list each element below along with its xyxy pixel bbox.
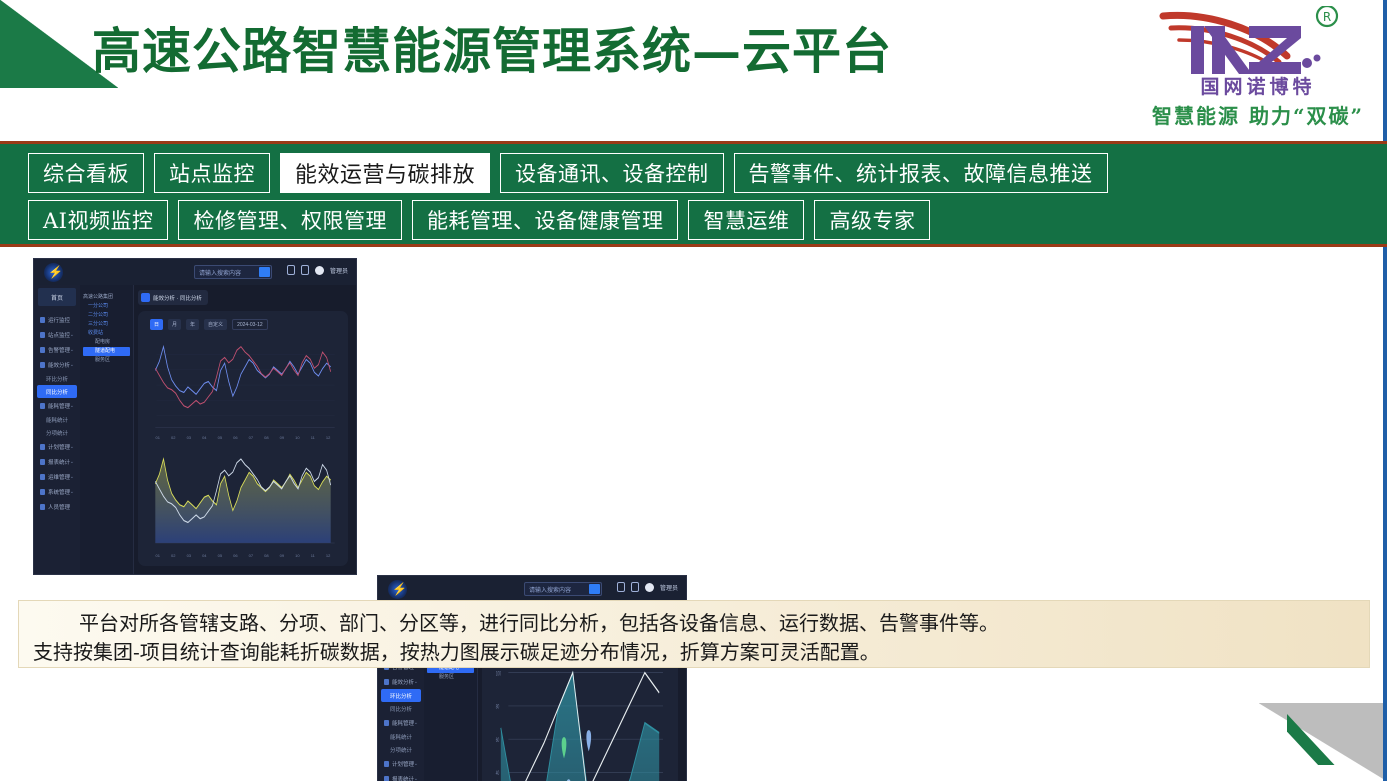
tree-node-0[interactable]: 高速公路集团: [83, 293, 130, 302]
svg-text:60: 60: [496, 737, 500, 745]
caption-line-2: 支持按集团-项目统计查询能耗折碳数据，按热力图展示碳足迹分布情况，折算方案可灵活…: [33, 638, 1355, 667]
svg-text:40: 40: [496, 770, 500, 778]
x-tick: 02: [171, 435, 175, 443]
tree-node-7[interactable]: 服务区: [83, 356, 130, 365]
sidebar-sub-1[interactable]: 同比分析: [381, 702, 421, 715]
x-tick: 10: [295, 553, 299, 561]
chevron-down-icon: ⌄: [70, 332, 74, 338]
sidebar-sub-0-selected[interactable]: 环比分析: [381, 689, 421, 702]
x-tick: 04: [202, 435, 206, 443]
sidebar-sub-3[interactable]: 分项统计: [37, 426, 77, 439]
svg-text:100: 100: [496, 670, 501, 678]
dash1-sidebar[interactable]: 首页 运行监控 站点监控⌄ 告警管理⌄ 能效分析⌄ 环比分析 同比分析 能耗管理…: [34, 285, 80, 574]
chevron-down-icon: ⌄: [70, 444, 74, 450]
dash2-area-chart: 100806040200: [492, 654, 668, 781]
dash2-user-label: 管理员: [660, 583, 678, 592]
avatar[interactable]: [315, 266, 324, 275]
x-tick: 09: [280, 553, 284, 561]
tree-node-7[interactable]: 服务区: [427, 673, 474, 682]
nav-tab-gaojizhuanjia[interactable]: 高级专家: [814, 200, 930, 240]
sidebar-sub-3[interactable]: 分项统计: [381, 743, 421, 756]
x-tick: 10: [295, 435, 299, 443]
pill-month[interactable]: 月: [168, 319, 181, 330]
x-tick: 11: [311, 553, 315, 561]
x-tick: 01: [156, 553, 160, 561]
message-icon[interactable]: [617, 582, 625, 592]
brand-logo: R 国网诺博特 智慧能源 助力“双碳”: [1135, 4, 1381, 132]
sidebar-home-label: 首页: [51, 293, 63, 302]
nav-tab-jianxiuguanli[interactable]: 检修管理、权限管理: [178, 200, 402, 240]
nav-tab-nenghaoguanli[interactable]: 能耗管理、设备健康管理: [412, 200, 679, 240]
tree-node-5[interactable]: 配电房: [83, 338, 130, 347]
breadcrumb-label: 能效分析 · 同比分析: [153, 294, 202, 302]
sidebar-item-3[interactable]: 能效分析⌄: [381, 674, 421, 689]
x-tick: 03: [187, 435, 191, 443]
chevron-down-icon: ⌄: [70, 474, 74, 480]
x-tick: 07: [249, 435, 253, 443]
chevron-down-icon: ⌄: [414, 776, 418, 781]
logo-monogram-icon: R: [1157, 6, 1357, 78]
x-tick: 06: [233, 553, 237, 561]
x-tick: 02: [171, 553, 175, 561]
dash1-search-placeholder: 请输入搜索内容: [199, 268, 241, 277]
dash2-search-placeholder: 请输入搜索内容: [529, 585, 571, 594]
chevron-down-icon: ⌄: [414, 761, 418, 767]
pill-custom[interactable]: 自定义: [204, 319, 227, 330]
chevron-down-icon: ⌄: [70, 459, 74, 465]
dash1-topbar: 请输入搜索内容 管理员: [34, 259, 356, 285]
x-tick: 05: [218, 435, 222, 443]
bell-icon[interactable]: [631, 582, 639, 592]
area-chart-svg: [150, 451, 336, 551]
sidebar-item-6[interactable]: 报表统计⌄: [37, 454, 77, 469]
x-tick: 08: [264, 435, 268, 443]
page-title: 高速公路智慧能源管理系统—云平台: [92, 14, 1102, 88]
tree-node-6-selected[interactable]: 隧道配电: [83, 347, 130, 356]
x-tick: 05: [218, 553, 222, 561]
dash1-user-label: 管理员: [330, 266, 348, 275]
x-tick: 01: [156, 435, 160, 443]
dash1-chart1-xaxis: 010203040506070809101112: [150, 435, 336, 443]
breadcrumb: 能效分析 · 同比分析: [138, 290, 208, 305]
svg-text:R: R: [1323, 10, 1331, 24]
screenshot-energy-trend-dashboard[interactable]: 请输入搜索内容 管理员 首页 运行监控 站点监控⌄ 告警管理⌄ 能效分析⌄ 环比…: [33, 258, 357, 575]
dash1-topbar-icons: 管理员: [287, 265, 348, 275]
sidebar-item-2[interactable]: 告警管理⌄: [37, 342, 77, 357]
sidebar-item-8[interactable]: 系统管理⌄: [37, 484, 77, 499]
chevron-down-icon: ⌄: [70, 347, 74, 353]
tree-node-2[interactable]: 二分公司: [83, 311, 130, 320]
dash1-main: 能效分析 · 同比分析 日 月 年 自定义 2024-03-12 0102030…: [134, 285, 352, 570]
area-chart-svg: 100806040200: [492, 654, 668, 781]
nav-tab-shebeitongxun[interactable]: 设备通讯、设备控制: [500, 153, 724, 193]
sidebar-item-4[interactable]: 能耗管理⌄: [381, 715, 421, 730]
x-tick: 11: [311, 435, 315, 443]
sidebar-item-5[interactable]: 计划管理⌄: [381, 756, 421, 771]
pill-day[interactable]: 日: [150, 319, 163, 330]
x-tick: 09: [280, 435, 284, 443]
sidebar-item-7[interactable]: 运维管理⌄: [37, 469, 77, 484]
chevron-down-icon: ⌄: [414, 720, 418, 726]
svg-text:80: 80: [496, 703, 500, 711]
nav-tab-zhihuiyunwei[interactable]: 智慧运维: [688, 200, 804, 240]
message-icon[interactable]: [287, 265, 295, 275]
sidebar-item-1[interactable]: 站点监控⌄: [37, 327, 77, 342]
dash1-search-input[interactable]: 请输入搜索内容: [194, 265, 272, 279]
nav-tab-zhandianjiankong[interactable]: 站点监控: [154, 153, 270, 193]
dash1-chart2-xaxis: 010203040506070809101112: [150, 553, 336, 561]
caption-box: 平台对所各管辖支路、分项、部门、分区等，进行同比分析，包括各设备信息、运行数据、…: [18, 600, 1370, 668]
sidebar-sub-1-selected[interactable]: 同比分析: [37, 385, 77, 398]
dash1-area-chart-bottom: 010203040506070809101112: [150, 451, 336, 561]
dash2-search-input[interactable]: 请输入搜索内容: [524, 582, 602, 596]
chevron-down-icon: ⌄: [70, 362, 74, 368]
dash2-app-logo-icon: [388, 580, 407, 599]
x-tick: 07: [249, 553, 253, 561]
x-tick: 08: [264, 553, 268, 561]
nav-band: 综合看板 站点监控 能效运营与碳排放 设备通讯、设备控制 告警事件、统计报表、故…: [0, 141, 1387, 247]
bell-icon[interactable]: [301, 265, 309, 275]
dash1-line-chart-top: 010203040506070809101112: [150, 339, 336, 443]
nav-tab-gaojingshijian[interactable]: 告警事件、统计报表、故障信息推送: [734, 153, 1108, 193]
sidebar-item-0[interactable]: 运行监控: [37, 312, 77, 327]
sidebar-item-9[interactable]: 人员管理: [37, 499, 77, 514]
nav-tab-nengxiaoyunying-active[interactable]: 能效运营与碳排放: [280, 153, 490, 193]
chevron-down-icon: ⌄: [414, 679, 418, 685]
x-tick: 04: [202, 553, 206, 561]
dash2-topbar: 请输入搜索内容 管理员: [378, 576, 686, 602]
sidebar-sub-2[interactable]: 能耗统计: [381, 730, 421, 743]
dash1-chart-card: 日 月 年 自定义 2024-03-12 0102030405060708091…: [138, 311, 348, 566]
chevron-down-icon: ⌄: [70, 489, 74, 495]
sidebar-item-home[interactable]: 首页: [38, 288, 76, 306]
nav-tab-ai-video[interactable]: AI视频监控: [28, 200, 168, 240]
nav-row-2: AI视频监控 检修管理、权限管理 能耗管理、设备健康管理 智慧运维 高级专家: [28, 200, 930, 240]
x-tick: 12: [326, 435, 330, 443]
avatar[interactable]: [645, 583, 654, 592]
sidebar-item-4[interactable]: 能耗管理⌄: [37, 398, 77, 413]
dash1-org-tree[interactable]: 高速公路集团 一分公司 二分公司 三分公司 收费站 配电房 隧道配电 服务区: [80, 285, 134, 574]
logo-company-name: 国网诺博特: [1163, 72, 1353, 99]
logo-slogan: 智慧能源 助力“双碳”: [1135, 100, 1381, 129]
caption-line-1: 平台对所各管辖支路、分项、部门、分区等，进行同比分析，包括各设备信息、运行数据、…: [33, 609, 1355, 638]
nav-row-1: 综合看板 站点监控 能效运营与碳排放 设备通讯、设备控制 告警事件、统计报表、故…: [28, 153, 1108, 193]
pill-year[interactable]: 年: [186, 319, 199, 330]
dash1-range-pills[interactable]: 日 月 年 自定义 2024-03-12: [150, 319, 268, 330]
line-chart-svg: [150, 339, 336, 435]
x-tick: 03: [187, 553, 191, 561]
dash2-topbar-icons: 管理员: [617, 582, 678, 592]
chart-marker-pin: [586, 730, 591, 751]
chevron-down-icon: ⌄: [70, 403, 74, 409]
sidebar-sub-2[interactable]: 能耗统计: [37, 413, 77, 426]
dash1-app-logo-icon: [44, 263, 63, 282]
nav-tab-zonghekanban[interactable]: 综合看板: [28, 153, 144, 193]
breadcrumb-icon: [141, 293, 150, 302]
sidebar-sub-0[interactable]: 环比分析: [37, 372, 77, 385]
sidebar-item-6[interactable]: 报表统计⌄: [381, 771, 421, 781]
tree-node-4[interactable]: 收费站: [83, 329, 130, 338]
x-tick: 12: [326, 553, 330, 561]
sidebar-item-3[interactable]: 能效分析⌄: [37, 357, 77, 372]
tree-node-3[interactable]: 三分公司: [83, 320, 130, 329]
screenshot-strip: 请输入搜索内容 管理员 首页 运行监控 站点监控⌄ 告警管理⌄ 能效分析⌄ 环比…: [0, 258, 1387, 580]
x-tick: 06: [233, 435, 237, 443]
corner-stripe-bottom-right: [1287, 703, 1379, 765]
tree-node-1[interactable]: 一分公司: [83, 302, 130, 311]
date-picker[interactable]: 2024-03-12: [232, 319, 268, 330]
sidebar-item-5[interactable]: 计划管理⌄: [37, 439, 77, 454]
slide-root: 高速公路智慧能源管理系统—云平台 R 国网诺博特 智慧能源 助力“双碳” 综合看…: [0, 0, 1387, 781]
